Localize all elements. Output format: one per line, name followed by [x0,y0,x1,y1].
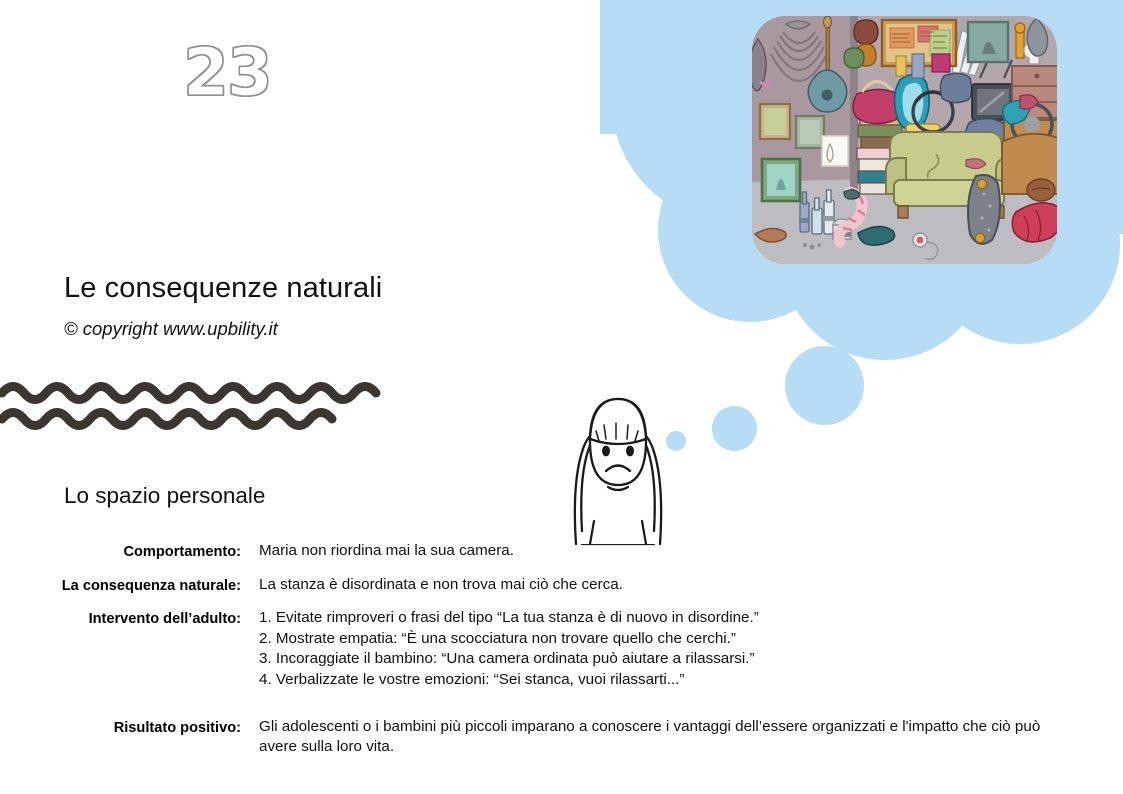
thought-bubble-cloud [600,0,1123,360]
row-label-comportamento: Comportamento: [0,541,241,563]
thought-trail-bubble-large [785,346,864,425]
row-line: Maria non riordina mai la sua camera. [259,541,1071,562]
copyright-text: © copyright www.upbility.it [64,318,278,340]
table-row: Risultato positivo: Gli adolescenti o i … [0,717,1090,758]
row-label-intervento: Intervento dell’adulto: [0,608,241,630]
row-value-comportamento: Maria non riordina mai la sua camera. [241,541,1071,562]
thought-trail-bubble-medium [712,406,757,451]
row-label-risultato: Risultato positivo: [0,717,241,739]
detail-rows: Comportamento: Maria non riordina mai la… [0,541,1090,770]
table-row: Intervento dell’adulto: 1. Evitate rimpr… [0,608,1090,690]
row-line: 1. Evitate rimproveri o frasi del tipo “… [259,608,1071,629]
row-value-risultato: Gli adolescenti o i bambini più piccoli … [241,717,1071,758]
page-number: 23 [183,40,271,106]
section-subtitle: Lo spazio personale [64,483,265,509]
wavy-divider [0,377,400,433]
row-value-consequenza: La stanza è disordinata e non trova mai … [241,575,1071,596]
page-title: Le consequenze naturali [64,272,382,305]
row-value-intervento: 1. Evitate rimproveri o frasi del tipo “… [241,608,1071,690]
row-line: 2. Mostrate empatia: “È una scocciatura … [259,629,1071,650]
page-number-text: 23 [183,34,271,111]
row-line: avere sulla loro vita. [259,737,1071,758]
row-label-consequenza: La consequenza naturale: [0,575,241,597]
table-row: Comportamento: Maria non riordina mai la… [0,541,1090,563]
messy-bedroom-illustration [749,16,1062,264]
row-line: 3. Incoraggiate il bambino: “Una camera … [259,649,1071,670]
sad-girl-line-art [560,381,676,546]
row-line: 4. Verbalizzate le vostre emozioni: “Sei… [259,670,1071,691]
row-line: Gli adolescenti o i bambini più piccoli … [259,717,1071,738]
row-line: La stanza è disordinata e non trova mai … [259,575,1071,596]
table-row: La consequenza naturale: La stanza è dis… [0,575,1090,597]
